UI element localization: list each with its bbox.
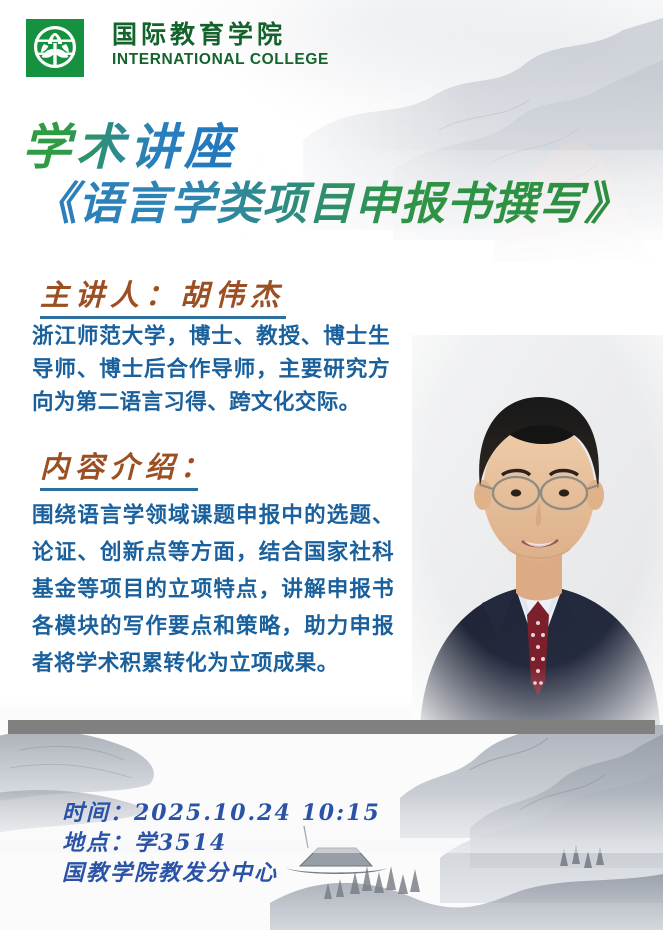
- content-description: 围绕语言学领域课题申报中的选题、论证、创新点等方面，结合国家社科基金等项目的立项…: [32, 497, 394, 682]
- speaker-heading-text: 主讲人：胡伟杰: [40, 278, 285, 312]
- brand-block: 国际教育学院 INTERNATIONAL COLLEGE: [112, 22, 329, 69]
- globe-tree-emblem-icon: [26, 19, 84, 77]
- brand-name-en: INTERNATIONAL COLLEGE: [112, 51, 329, 69]
- poster-canvas: 国际教育学院 INTERNATIONAL COLLEGE 学术讲座 《语言学类项…: [0, 0, 663, 930]
- poster-header: 国际教育学院 INTERNATIONAL COLLEGE: [0, 0, 663, 95]
- event-venue: 国教学院教发分中心: [62, 858, 381, 888]
- speaker-bio: 浙江师范大学，博士、教授、博士生导师、博士后合作导师，主要研究方向为第二语言习得…: [32, 320, 390, 419]
- speaker-portrait: [412, 335, 663, 725]
- content-heading: 内容介绍：: [40, 444, 215, 491]
- event-place: 地点：学3514: [62, 828, 381, 858]
- speaker-heading-underline: [40, 316, 286, 319]
- poster-subtitle: 《语言学类项目申报书撰写》: [32, 167, 630, 232]
- divider-bar: [8, 720, 655, 734]
- content-heading-underline: [40, 488, 198, 491]
- event-details: 时间：2025.10.24 10:15 地点：学3514 国教学院教发分中心: [62, 798, 381, 888]
- event-time: 时间：2025.10.24 10:15: [62, 798, 381, 828]
- brand-name-cn: 国际教育学院: [112, 22, 329, 48]
- content-heading-text: 内容介绍：: [40, 450, 215, 484]
- speaker-heading: 主讲人：胡伟杰: [40, 272, 286, 319]
